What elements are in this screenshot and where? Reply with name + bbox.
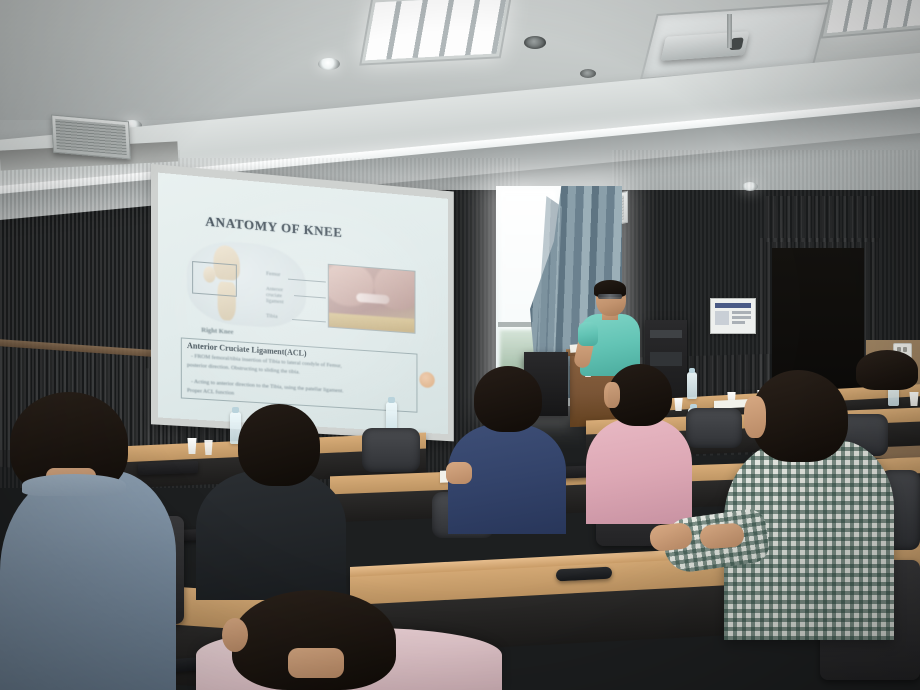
projection-screen: ANATOMY OF KNEE Right Knee Femur Anterio… [158, 173, 448, 435]
knee-photo-inset [328, 264, 416, 334]
downlight [318, 58, 340, 70]
wall-speaker-left [51, 114, 131, 159]
audience-member-head [474, 366, 542, 432]
audience-member-face [744, 396, 766, 438]
audience-member-hand [699, 522, 745, 549]
audience-member-head [752, 370, 848, 462]
glasses-icon [598, 294, 622, 299]
audience-member-arm [446, 462, 472, 484]
collar [22, 474, 126, 496]
audience-member-head [238, 404, 320, 486]
audience-member-neck [288, 648, 344, 678]
chair [362, 428, 420, 472]
rack-panel [650, 330, 682, 338]
rack-panel [650, 352, 682, 366]
seminar-room-photo: ANATOMY OF KNEE Right Knee Femur Anterio… [0, 0, 920, 690]
laser-pointer-dot [419, 371, 434, 388]
slide-title: ANATOMY OF KNEE [205, 213, 342, 241]
audience-member-torso [0, 470, 176, 690]
smoke-detector [580, 69, 596, 78]
callout-label-tibia: Tibia [266, 313, 277, 320]
callout-leader [292, 319, 326, 322]
audience-member-ear [222, 618, 248, 652]
knee-caption: Right Knee [201, 327, 233, 336]
smoke-detector [524, 36, 546, 49]
audience-member-head [856, 350, 918, 390]
audience-member-torso [196, 470, 346, 600]
audience-member-torso [586, 418, 692, 524]
framed-notice[interactable] [710, 298, 756, 334]
laptop[interactable] [138, 461, 198, 475]
callout-label-femur: Femur [266, 271, 280, 278]
wood-panel-right-upper [766, 196, 878, 242]
chair [686, 408, 742, 448]
water-bottle [687, 372, 697, 399]
fluorescent-troffer [359, 0, 513, 66]
presenter-sleeve [578, 322, 598, 346]
audience-member-face [604, 382, 620, 408]
projector-mount-pole [727, 14, 732, 48]
knee-zoom-box [192, 261, 237, 297]
callout-label-acl: Anterior cruciate ligament [266, 287, 296, 307]
